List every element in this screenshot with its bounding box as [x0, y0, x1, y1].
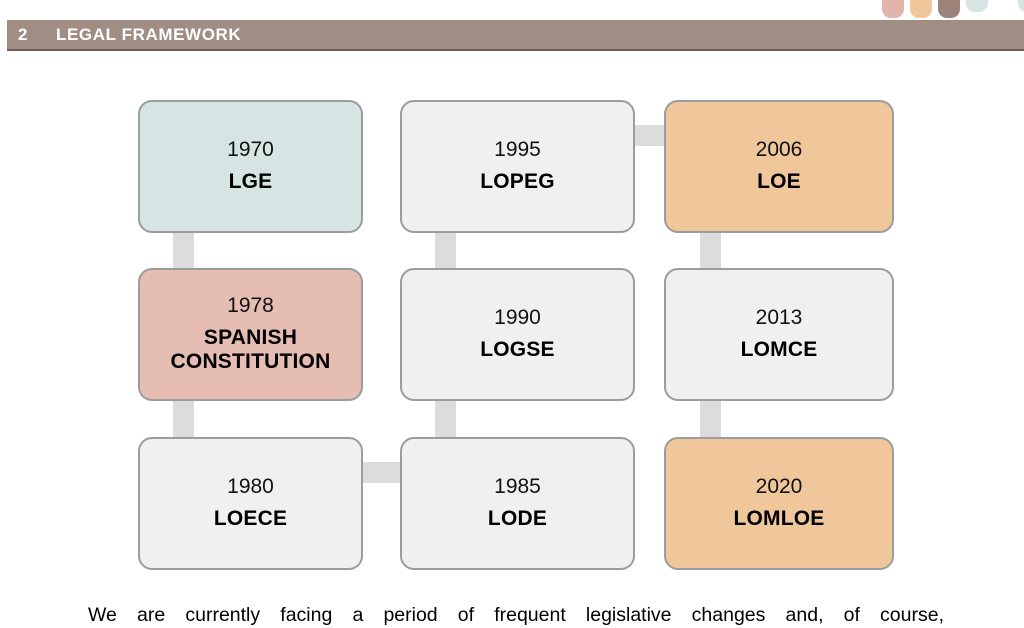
node-lomce-year: 2013 [756, 306, 803, 331]
node-logse-law: LOGSE [480, 338, 555, 363]
legal-framework-diagram: 1970 LGE 1995 LOPEG 2006 LOE 1978 SPANIS… [0, 0, 1024, 627]
node-lge-law: LGE [229, 170, 273, 195]
node-lode-law: LODE [488, 507, 547, 532]
node-loe-year: 2006 [756, 138, 803, 163]
node-spanish-constitution-law: SPANISHCONSTITUTION [171, 326, 331, 376]
node-loe[interactable]: 2006 LOE [664, 100, 894, 233]
node-lopeg-year: 1995 [494, 138, 541, 163]
node-lomloe[interactable]: 2020 LOMLOE [664, 437, 894, 570]
node-logse[interactable]: 1990 LOGSE [400, 268, 635, 401]
node-lomloe-law: LOMLOE [733, 507, 824, 532]
node-loece-year: 1980 [227, 475, 274, 500]
node-logse-year: 1990 [494, 306, 541, 331]
node-lomce-law: LOMCE [741, 338, 818, 363]
node-lopeg-law: LOPEG [480, 170, 555, 195]
node-loece[interactable]: 1980 LOECE [138, 437, 363, 570]
node-loe-law: LOE [757, 170, 801, 195]
node-lge[interactable]: 1970 LGE [138, 100, 363, 233]
node-lode[interactable]: 1985 LODE [400, 437, 635, 570]
node-spanish-constitution[interactable]: 1978 SPANISHCONSTITUTION [138, 268, 363, 401]
node-spanish-constitution-year: 1978 [227, 294, 274, 319]
node-lopeg[interactable]: 1995 LOPEG [400, 100, 635, 233]
node-lomloe-year: 2020 [756, 475, 803, 500]
body-paragraph: We are currently facing a period of freq… [88, 602, 944, 628]
node-loece-law: LOECE [214, 507, 287, 532]
node-lode-year: 1985 [494, 475, 541, 500]
node-lge-year: 1970 [227, 138, 274, 163]
node-lomce[interactable]: 2013 LOMCE [664, 268, 894, 401]
